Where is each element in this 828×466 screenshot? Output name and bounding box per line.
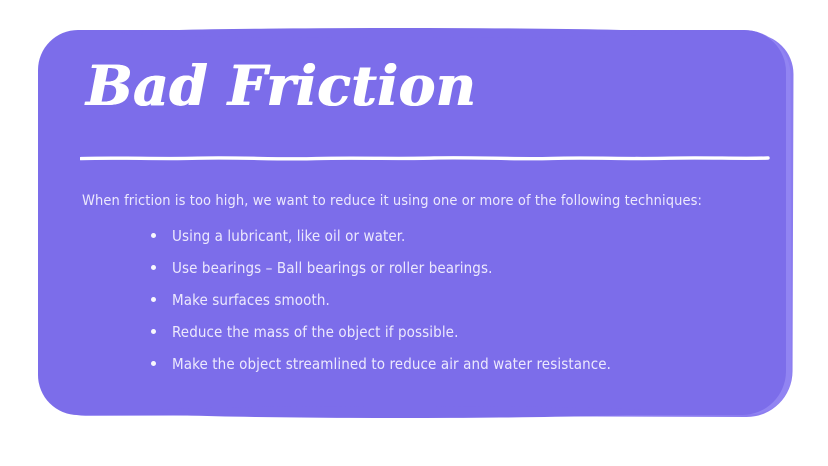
card-content: Bad Friction When friction is too high, … — [38, 30, 786, 415]
list-item-label: Using a lubricant, like oil or water. — [172, 227, 405, 245]
title-divider — [80, 154, 756, 161]
slide-title: Bad Friction — [86, 58, 476, 113]
list-item: Use bearings – Ball bearings or roller b… — [148, 258, 748, 290]
slide-canvas: Bad Friction When friction is too high, … — [0, 0, 828, 466]
intro-text: When friction is too high, we want to re… — [82, 193, 742, 210]
list-item-label: Reduce the mass of the object if possibl… — [172, 323, 458, 341]
list-item-label: Use bearings – Ball bearings or roller b… — [172, 259, 492, 277]
list-item-label: Make the object streamlined to reduce ai… — [172, 355, 611, 373]
list-item: Make surfaces smooth. — [148, 290, 748, 322]
list-item-label: Make surfaces smooth. — [172, 291, 330, 309]
list-item: Reduce the mass of the object if possibl… — [148, 322, 748, 354]
list-item: Make the object streamlined to reduce ai… — [148, 354, 748, 386]
list-item: Using a lubricant, like oil or water. — [148, 226, 748, 258]
technique-list: Using a lubricant, like oil or water. Us… — [148, 226, 748, 386]
